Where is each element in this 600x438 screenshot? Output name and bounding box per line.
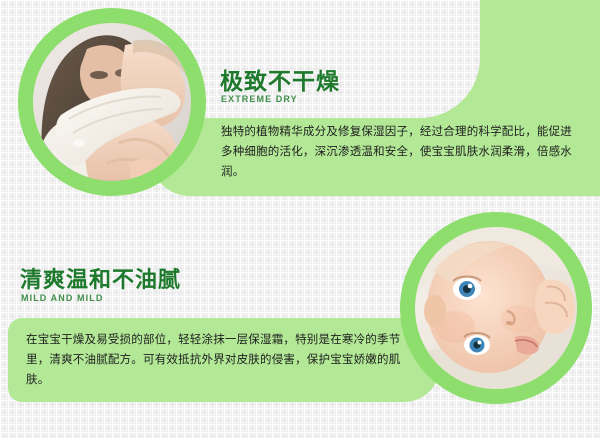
section-2-body-text: 在宝宝干燥及易受损的部位，轻轻涂抹一层保湿霜，特别是在寒冷的季节里，清爽不油腻配… bbox=[26, 330, 418, 390]
section-1-body-text: 独特的植物精华成分及修复保湿因子，经过合理的科学配比，能促进多种细胞的活化，深沉… bbox=[221, 122, 577, 182]
mother-holding-baby-photo bbox=[33, 23, 191, 181]
section-2-title: 清爽温和不油腻 bbox=[20, 262, 181, 294]
section-1-subtitle: EXTREME DRY bbox=[221, 94, 298, 104]
section-1-title: 极致不干燥 bbox=[220, 62, 340, 96]
section-2-subtitle: MILD AND MILD bbox=[21, 293, 103, 303]
baby-face-photo bbox=[415, 227, 577, 389]
mother-holding-baby-photo-ring bbox=[18, 8, 206, 196]
baby-face-photo-ring bbox=[400, 212, 592, 404]
